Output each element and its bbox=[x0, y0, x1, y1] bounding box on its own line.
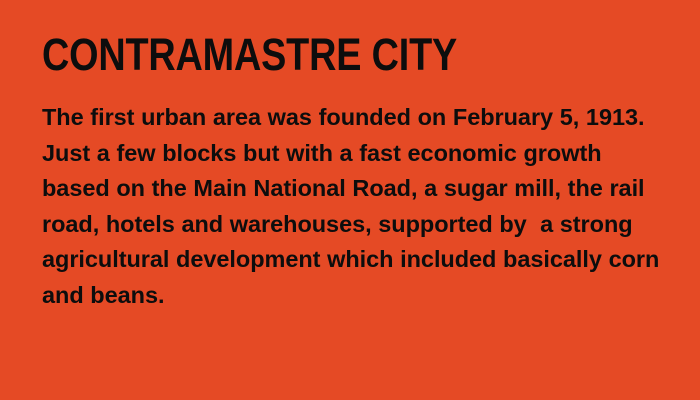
page-title: CONTRAMASTRE CITY bbox=[42, 30, 563, 80]
body-text-block: The first urban area was founded on Febr… bbox=[42, 100, 667, 313]
slide-canvas: CONTRAMASTRE CITY The first urban area w… bbox=[0, 0, 700, 400]
body-paragraph: The first urban area was founded on Febr… bbox=[42, 100, 667, 313]
